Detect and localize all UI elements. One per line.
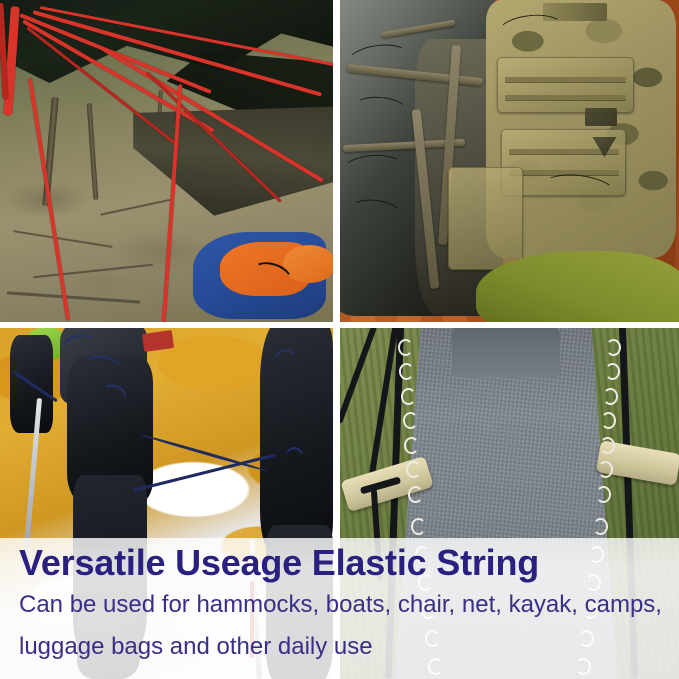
elastic-lace-loop [605,363,620,380]
product-feature-banner: Versatile Useage Elastic String Can be u… [0,0,679,679]
utility-pouch [448,167,523,270]
identification-patch [585,108,617,126]
elastic-lace-loop [593,518,608,535]
banner-headline: Versatile Useage Elastic String [19,542,539,584]
elastic-lace-loop [401,388,416,405]
elastic-lace-loop [403,412,418,429]
molle-webbing [505,77,626,82]
photo-top-left [0,0,333,322]
elastic-lace-loop [603,388,618,405]
banner-text-block: Versatile Useage Elastic String Can be u… [0,538,679,679]
elastic-lace-loop [606,339,621,356]
backpack-front-pocket [497,57,634,114]
elastic-lace-loop [398,339,413,356]
banner-subline-2: luggage bags and other daily use [19,633,679,661]
chair-headrest [452,328,560,377]
banner-subline-1: Can be used for hammocks, boats, chair, … [19,591,679,619]
jacket-accent [142,329,174,351]
elastic-lace-loop [408,486,423,503]
elastic-lace-loop [600,437,615,454]
elastic-lace-loop [411,518,426,535]
grid-gutter-horizontal [0,322,679,328]
molle-webbing [505,95,626,100]
photo-top-right [340,0,679,322]
bungee-cord [496,12,567,51]
